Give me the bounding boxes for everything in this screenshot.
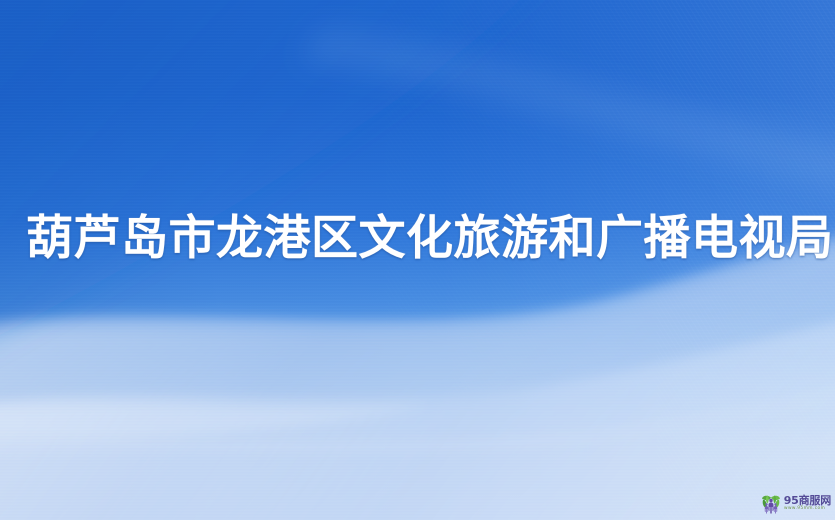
watermark-site-url: www.95mm.com — [784, 507, 825, 511]
green-leaf-people-logo-icon — [761, 493, 781, 514]
banner-image: 葫芦岛市龙港区文化旅游和广播电视局 95商服网 www.95mm.com — [0, 0, 835, 520]
watermark-site-name: 95商服网 — [784, 495, 831, 506]
banner-title: 葫芦岛市龙港区文化旅游和广播电视局 — [26, 208, 816, 268]
watermark-text-block: 95商服网 www.95mm.com — [784, 495, 831, 511]
watermark: 95商服网 www.95mm.com — [761, 493, 831, 514]
